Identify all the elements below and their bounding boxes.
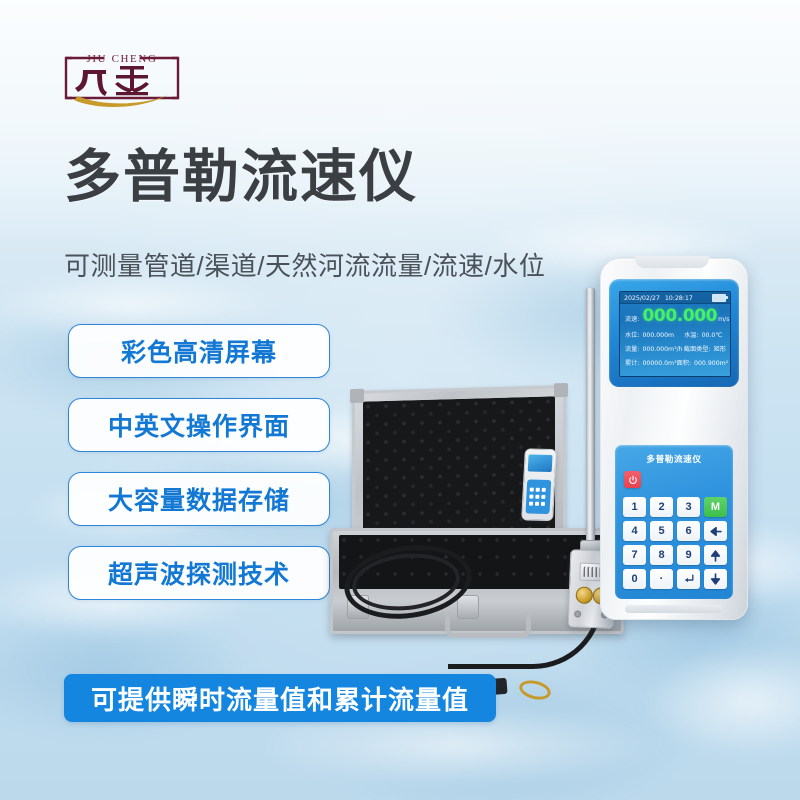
lcd-time: 10:28:17 — [665, 294, 693, 302]
screen-bezel: 2025/02/27 10:28:17 流速: 000.000 m/s 水位: … — [609, 279, 739, 387]
key-4[interactable]: 4 — [623, 521, 646, 541]
mini-keypad — [525, 479, 551, 514]
key-5[interactable]: 5 — [650, 521, 673, 541]
key-back[interactable] — [704, 521, 727, 541]
lcd-section-label: 截面类型: — [684, 344, 711, 353]
key-decimal[interactable]: · — [650, 569, 673, 589]
device-bottom-trim — [625, 605, 723, 613]
product-banner: JIU CHENG 多普勒流速仪 可测量管道/渠道/天然河流流量/流速/水位 彩… — [0, 0, 800, 800]
page-title: 多普勒流速仪 — [64, 148, 418, 208]
lcd-date: 2025/02/27 — [624, 294, 660, 302]
lcd-display: 2025/02/27 10:28:17 流速: 000.000 m/s 水位: … — [619, 291, 731, 377]
lcd-velocity-label: 流速: — [625, 314, 639, 323]
lcd-status-bar: 2025/02/27 10:28:17 — [620, 292, 730, 304]
wading-rod — [586, 288, 595, 550]
battery-icon — [712, 294, 726, 302]
case-lid — [352, 385, 566, 549]
lcd-velocity-unit: m/s — [718, 316, 729, 323]
key-0[interactable]: 0 — [623, 569, 646, 589]
handheld-flow-meter: 2025/02/27 10:28:17 流速: 000.000 m/s 水位: … — [600, 258, 748, 620]
feature-pill: 超声波探测技术 — [68, 546, 330, 600]
left-arrow-icon — [709, 525, 722, 538]
key-2[interactable]: 2 — [650, 497, 673, 517]
feature-pill: 中英文操作界面 — [68, 398, 330, 452]
lcd-level-value: 000.000m — [642, 332, 674, 339]
lcd-temp-label: 水温: — [684, 330, 698, 339]
lcd-velocity-value: 000.000 — [642, 308, 717, 325]
lcd-total-row: 累计: 00000.0m³ 面积: 000.900m² — [625, 358, 726, 367]
key-enter[interactable] — [677, 569, 700, 589]
lcd-level-label: 水位: — [625, 330, 639, 339]
bottom-banner: 可提供瞬时流量值和累计流量值 — [64, 674, 496, 722]
device-notch — [635, 256, 709, 268]
lcd-area-value: 000.900m² — [694, 360, 728, 367]
feature-list: 彩色高清屏幕 中英文操作界面 大容量数据存储 超声波探测技术 — [68, 324, 330, 620]
svg-text:JIU CHENG: JIU CHENG — [87, 53, 158, 65]
lcd-total-label: 累计: — [625, 358, 639, 367]
lcd-flow-row: 流量: 000.000m³/h 截面类型: 矩形 — [625, 344, 726, 353]
key-3[interactable]: 3 — [677, 497, 700, 517]
key-9[interactable]: 9 — [677, 545, 700, 565]
company-logo: JIU CHENG — [58, 40, 186, 112]
page-subtitle: 可测量管道/渠道/天然河流流量/流速/水位 — [64, 246, 545, 283]
key-6[interactable]: 6 — [677, 521, 700, 541]
lcd-temp-value: 00.0℃ — [702, 332, 723, 339]
key-memory[interactable]: M — [704, 497, 727, 517]
key-down[interactable] — [704, 569, 727, 589]
feature-pill: 彩色高清屏幕 — [68, 324, 330, 378]
feature-pill: 大容量数据存储 — [68, 472, 330, 526]
power-icon — [628, 475, 638, 485]
key-7[interactable]: 7 — [623, 545, 646, 565]
transducer-icon — [575, 586, 593, 604]
device-brand-label: 多普勒流速仪 — [615, 453, 733, 465]
key-8[interactable]: 8 — [650, 545, 673, 565]
key-1[interactable]: 1 — [623, 497, 646, 517]
power-button[interactable] — [624, 471, 641, 488]
lcd-flow-value: 000.000m³/h — [642, 346, 682, 353]
handheld-unit-in-case — [521, 448, 557, 521]
lcd-section-value: 矩形 — [714, 344, 726, 353]
key-up[interactable] — [704, 545, 727, 565]
up-arrow-icon — [709, 549, 722, 562]
lcd-level-row: 水位: 000.000m 水温: 00.0℃ — [625, 330, 726, 339]
keypad-panel: 多普勒流速仪 1 2 3 M 4 5 6 — [615, 445, 733, 599]
lcd-flow-label: 流量: — [625, 344, 639, 353]
lcd-total-value: 00000.0m³ — [642, 360, 676, 367]
keypad: 1 2 3 M 4 5 6 7 8 9 — [623, 497, 727, 589]
down-arrow-icon — [709, 573, 722, 586]
lcd-velocity-row: 流速: 000.000 m/s — [625, 308, 726, 325]
mini-screen — [528, 454, 553, 472]
enter-icon — [682, 573, 695, 586]
lcd-area-label: 面积: — [677, 358, 691, 367]
